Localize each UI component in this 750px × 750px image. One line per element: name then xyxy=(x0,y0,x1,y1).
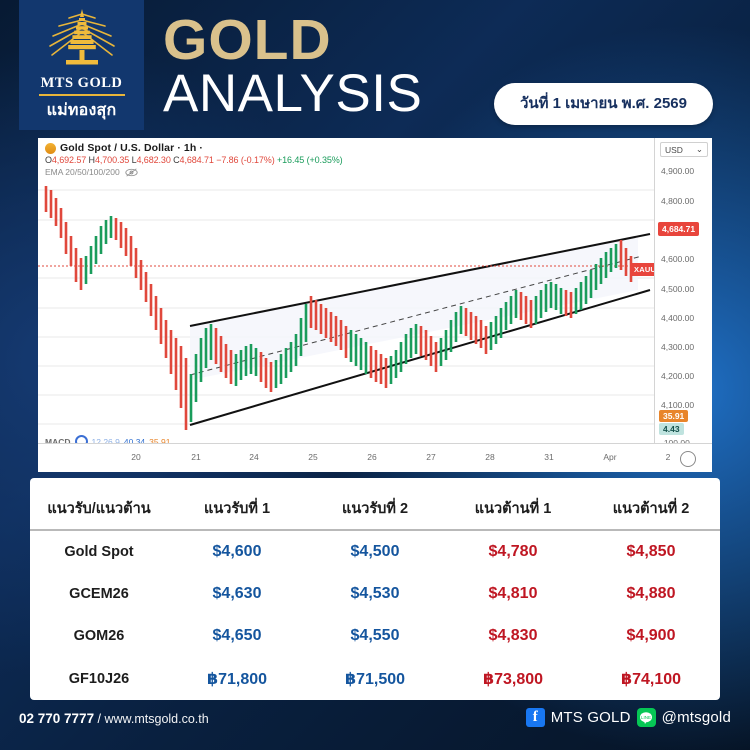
row-name: Gold Spot xyxy=(30,530,168,573)
logo-name-th: แม่ทองสุก xyxy=(47,98,117,123)
gold-coin-icon xyxy=(45,143,56,154)
chart-ohlc-row: O4,692.57 H4,700.35 L4,682.30 C4,684.71 … xyxy=(45,155,712,165)
ema-label: EMA 20/50/100/200 xyxy=(45,167,120,177)
col-header-support-1: แนวรับที่ 1 xyxy=(168,478,306,530)
cell-resistance-2: ฿74,100 xyxy=(582,657,720,701)
cell-resistance-1: $4,810 xyxy=(444,573,582,615)
table-row: Gold Spot $4,600 $4,500 $4,780 $4,850 xyxy=(30,530,720,573)
col-header-resistance-1: แนวต้านที่ 1 xyxy=(444,478,582,530)
date-badge: วันที่ 1 เมษายน พ.ศ. 2569 xyxy=(494,83,713,125)
chart-symbol-label: Gold Spot / U.S. Dollar · 1h · xyxy=(60,142,203,154)
ytick-4100: 4,100.00 xyxy=(661,400,694,410)
footer-separator: / xyxy=(94,712,104,726)
cell-support-1: $4,650 xyxy=(168,615,306,657)
brand-logo: MTS GOLD แม่ทองสุก xyxy=(19,0,144,130)
xtick-26: 26 xyxy=(367,452,376,462)
facebook-name[interactable]: MTS GOLD xyxy=(551,709,631,726)
ytick-4300: 4,300.00 xyxy=(661,342,694,352)
ytick-4200: 4,200.00 xyxy=(661,371,694,381)
ytick-4600: 4,600.00 xyxy=(661,254,694,264)
col-header-instrument: แนวรับ/แนวต้าน xyxy=(30,478,168,530)
row-name: GCEM26 xyxy=(30,573,168,615)
svg-text:LINE: LINE xyxy=(641,715,651,720)
phone-number[interactable]: 02 770 7777 xyxy=(19,711,94,726)
xtick-27: 27 xyxy=(426,452,435,462)
support-resistance-table: แนวรับ/แนวต้าน แนวรับที่ 1 แนวรับที่ 2 แ… xyxy=(30,478,720,700)
line-name[interactable]: @mtsgold xyxy=(662,709,731,726)
table-row: GOM26 $4,650 $4,550 $4,830 $4,900 xyxy=(30,615,720,657)
chart-ema-row[interactable]: EMA 20/50/100/200 xyxy=(45,167,712,177)
xtick-apr: Apr xyxy=(603,452,616,462)
header: MTS GOLD แม่ทองสุก GOLD ANALYSIS วันที่ … xyxy=(0,0,750,130)
website-link[interactable]: www.mtsgold.co.th xyxy=(105,712,209,726)
ohlc-change2-pct: (+0.35%) xyxy=(307,155,343,165)
cell-support-1: $4,600 xyxy=(168,530,306,573)
cell-resistance-2: $4,880 xyxy=(582,573,720,615)
contact-info: 02 770 7777 / www.mtsgold.co.th xyxy=(19,711,209,726)
clock-icon[interactable] xyxy=(680,451,696,467)
xtick-25: 25 xyxy=(308,452,317,462)
macd-value-tag: 35.91 xyxy=(659,410,688,422)
eye-off-icon[interactable] xyxy=(125,168,138,177)
price-plot[interactable] xyxy=(38,178,654,433)
xtick-20: 20 xyxy=(131,452,140,462)
ohlc-o-value: 4,692.57 xyxy=(52,155,86,165)
ohlc-c-value: 4,684.71 xyxy=(180,155,214,165)
ohlc-o-label: O xyxy=(45,155,52,165)
table-row: GCEM26 $4,630 $4,530 $4,810 $4,880 xyxy=(30,573,720,615)
table-row: GF10J26 ฿71,800 ฿71,500 ฿73,800 ฿74,100 xyxy=(30,657,720,701)
footer: 02 770 7777 / www.mtsgold.co.th f MTS GO… xyxy=(0,700,750,750)
page-title: GOLD ANALYSIS xyxy=(163,14,422,122)
cell-resistance-1: $4,780 xyxy=(444,530,582,573)
cell-support-2: ฿71,500 xyxy=(306,657,444,701)
row-name: GF10J26 xyxy=(30,657,168,701)
time-axis[interactable]: 20 21 24 25 26 27 28 31 Apr 2 xyxy=(38,443,712,472)
currency-select[interactable]: USD ⌄ xyxy=(660,142,708,157)
cell-support-2: $4,500 xyxy=(306,530,444,573)
pagoda-icon xyxy=(39,8,125,74)
table-header-row: แนวรับ/แนวต้าน แนวรับที่ 1 แนวรับที่ 2 แ… xyxy=(30,478,720,530)
xtick-2: 2 xyxy=(666,452,671,462)
chart-header: Gold Spot / U.S. Dollar · 1h · O4,692.57… xyxy=(38,138,712,182)
col-header-resistance-2: แนวต้านที่ 2 xyxy=(582,478,720,530)
macd-hist-tag: 4.43 xyxy=(659,423,684,435)
row-name: GOM26 xyxy=(30,615,168,657)
ytick-4400: 4,400.00 xyxy=(661,313,694,323)
ohlc-l-value: 4,682.30 xyxy=(137,155,171,165)
logo-name-en: MTS GOLD xyxy=(41,75,123,92)
cell-support-2: $4,550 xyxy=(306,615,444,657)
price-axis[interactable]: USD ⌄ 4,900.00 4,800.00 4,684.71 4,600.0… xyxy=(654,138,712,443)
col-header-support-2: แนวรับที่ 2 xyxy=(306,478,444,530)
cell-support-2: $4,530 xyxy=(306,573,444,615)
chevron-down-icon[interactable]: ⌄ xyxy=(696,144,703,155)
ohlc-change2-abs: +16.45 xyxy=(277,155,304,165)
line-glyph: LINE xyxy=(639,711,653,725)
cell-support-1: $4,630 xyxy=(168,573,306,615)
ohlc-change-abs: −7.86 xyxy=(216,155,238,165)
cell-resistance-2: $4,850 xyxy=(582,530,720,573)
currency-label: USD xyxy=(665,145,683,155)
xtick-21: 21 xyxy=(191,452,200,462)
ohlc-h-value: 4,700.35 xyxy=(95,155,129,165)
cell-resistance-1: ฿73,800 xyxy=(444,657,582,701)
social-links: f MTS GOLD LINE @mtsgold xyxy=(526,708,731,727)
chart-card: Gold Spot / U.S. Dollar · 1h · O4,692.57… xyxy=(38,138,712,472)
xtick-31: 31 xyxy=(544,452,553,462)
ohlc-change-pct: (-0.17%) xyxy=(241,155,275,165)
title-analysis: ANALYSIS xyxy=(163,66,422,122)
xtick-28: 28 xyxy=(485,452,494,462)
line-icon[interactable]: LINE xyxy=(637,708,656,727)
cell-support-1: ฿71,800 xyxy=(168,657,306,701)
facebook-icon[interactable]: f xyxy=(526,708,545,727)
ytick-4500: 4,500.00 xyxy=(661,284,694,294)
ytick-4900: 4,900.00 xyxy=(661,166,694,176)
xtick-24: 24 xyxy=(249,452,258,462)
title-gold: GOLD xyxy=(163,14,422,66)
ytick-4800: 4,800.00 xyxy=(661,196,694,206)
cell-resistance-2: $4,900 xyxy=(582,615,720,657)
gold-analysis-infographic: MTS GOLD แม่ทองสุก GOLD ANALYSIS วันที่ … xyxy=(0,0,750,750)
logo-divider xyxy=(39,94,125,96)
current-price-tag: 4,684.71 xyxy=(658,222,699,236)
chart-symbol-row: Gold Spot / U.S. Dollar · 1h · xyxy=(45,142,712,154)
cell-resistance-1: $4,830 xyxy=(444,615,582,657)
